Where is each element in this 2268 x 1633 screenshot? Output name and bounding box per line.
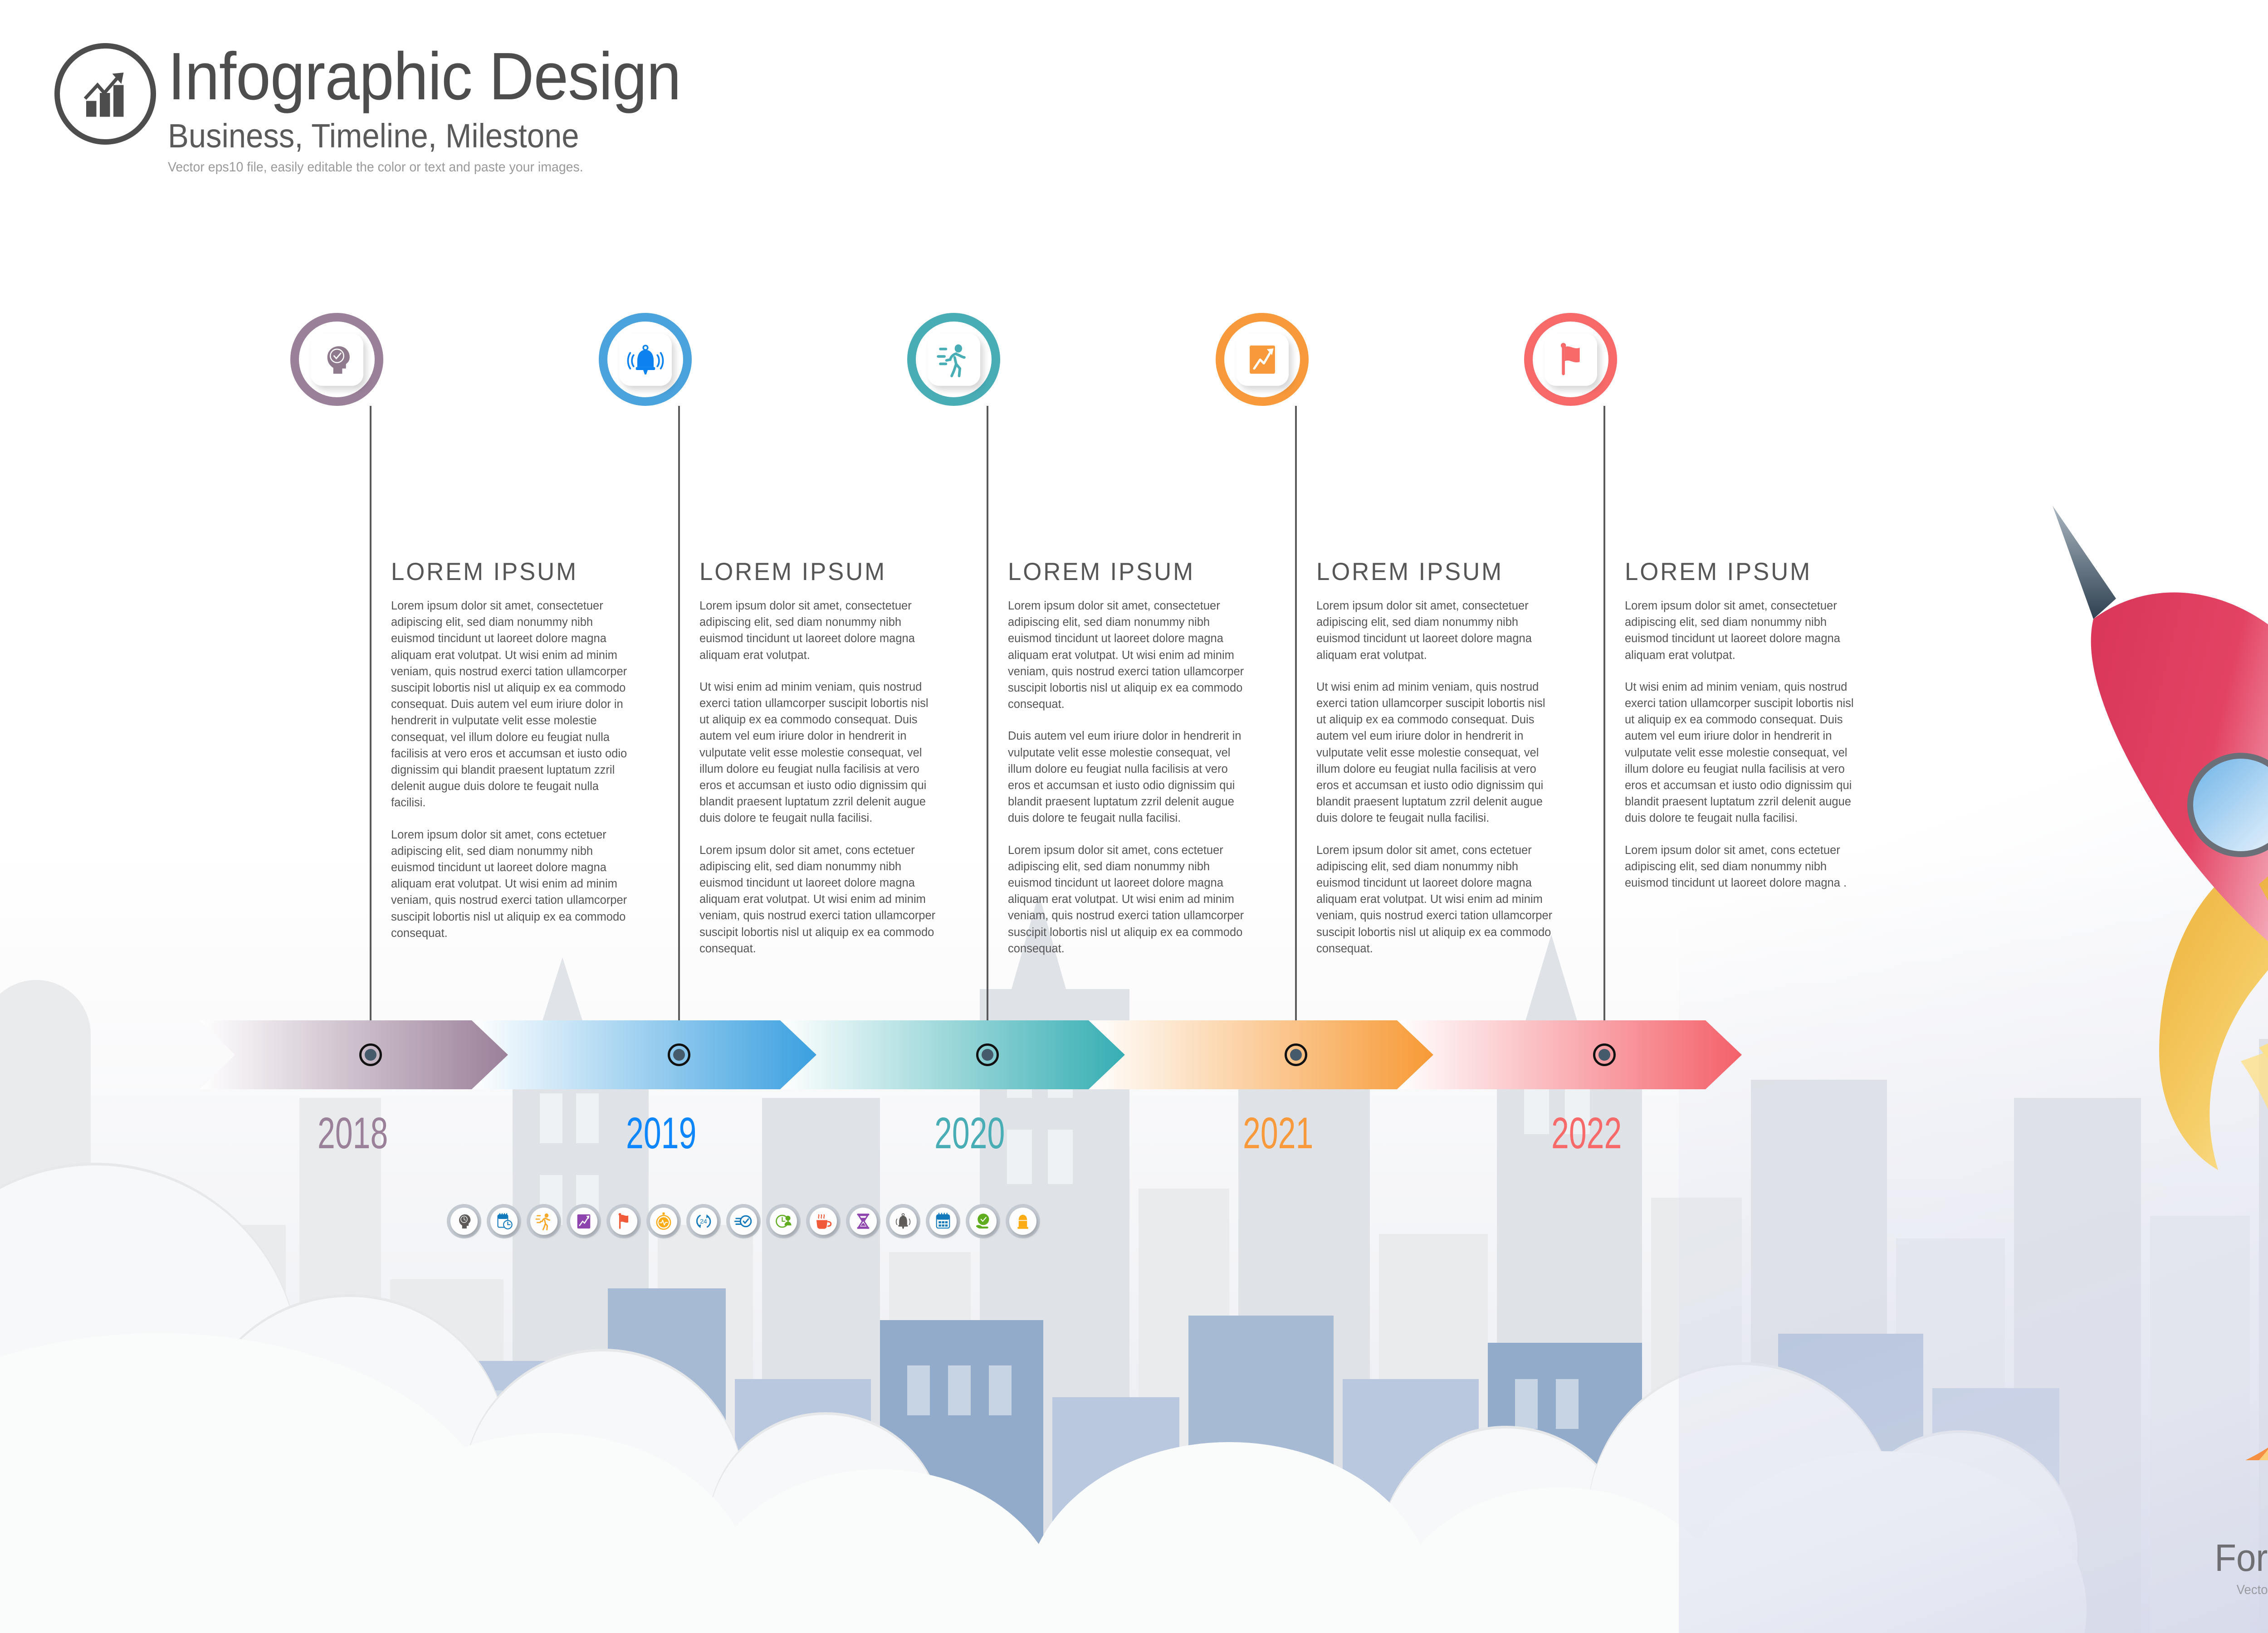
icon-strip-item[interactable]: 24	[686, 1204, 721, 1238]
hourglass-icon	[850, 1208, 877, 1235]
icon-strip-item[interactable]	[527, 1204, 561, 1238]
head-clock-icon	[450, 1208, 478, 1235]
flag-icon	[1545, 333, 1597, 386]
column-heading: LOREM IPSUM	[699, 557, 930, 586]
stopwatch-pulse-icon	[650, 1208, 677, 1235]
column-paragraph: Lorem ipsum dolor sit amet, consectetuer…	[1625, 598, 1865, 663]
icon-strip-item[interactable]	[806, 1204, 841, 1238]
connector-line-2019	[678, 406, 680, 1041]
icon-strip-item[interactable]	[726, 1204, 761, 1238]
bell-icon	[619, 333, 672, 386]
year-label-2020: 2020	[934, 1111, 1005, 1155]
timeline-arrow-bar	[200, 1020, 1742, 1089]
page-title: Infographic Design	[168, 43, 681, 110]
column-paragraph: Ut wisi enim ad minim veniam, quis nostr…	[1625, 679, 1865, 827]
running-man-icon	[928, 333, 980, 386]
icon-strip-item[interactable]	[966, 1204, 1000, 1238]
column-paragraph: Ut wisi enim ad minim veniam, quis nostr…	[1316, 679, 1557, 827]
running-man-icon	[530, 1208, 557, 1235]
milestone-circle-2022[interactable]	[1524, 313, 1617, 406]
column-paragraph: Lorem ipsum dolor sit amet, cons ectetue…	[1316, 842, 1557, 957]
icon-strip-item[interactable]	[567, 1204, 601, 1238]
milestone-circle-2018[interactable]	[290, 313, 383, 406]
icon-strip-item[interactable]	[646, 1204, 681, 1238]
bell-icon	[890, 1208, 917, 1235]
icon-strip-item[interactable]	[487, 1204, 521, 1238]
column-paragraph: Lorem ipsum dolor sit amet, consectetuer…	[391, 598, 631, 811]
column-paragraph: Lorem ipsum dolor sit amet, cons ectetue…	[1625, 842, 1865, 892]
timeline-pin-2018[interactable]	[359, 1043, 382, 1066]
footer-title: For Company Presentation	[2214, 1536, 2268, 1580]
column-heading: LOREM IPSUM	[391, 557, 622, 586]
column-paragraph: Duis autem vel eum iriure dolor in hendr…	[1008, 728, 1248, 826]
milestone-circle-2021[interactable]	[1216, 313, 1309, 406]
column-paragraph: Lorem ipsum dolor sit amet, consectetuer…	[1316, 598, 1557, 663]
24-hours-icon: 24	[690, 1208, 717, 1235]
bar-chart-growth-icon	[54, 43, 156, 145]
column-paragraph: Ut wisi enim ad minim veniam, quis nostr…	[699, 679, 940, 827]
svg-text:24: 24	[700, 1218, 707, 1225]
growth-chart-icon	[570, 1208, 597, 1235]
brand-header: Infographic Design Business, Timeline, M…	[54, 43, 719, 175]
milestone-column-2018: LOREM IPSUM Lorem ipsum dolor sit amet, …	[391, 557, 631, 957]
milestone-column-2021: LOREM IPSUM Lorem ipsum dolor sit amet, …	[1316, 557, 1557, 972]
icon-strip-item[interactable]	[1006, 1204, 1040, 1238]
page-note: Vector eps10 file, easily editable the c…	[168, 160, 692, 175]
year-label-2021: 2021	[1243, 1111, 1313, 1155]
milestone-marker-icon	[1009, 1208, 1036, 1235]
growth-chart-icon	[1236, 333, 1289, 386]
calendar-clock-icon	[490, 1208, 518, 1235]
timeline-pin-2020[interactable]	[976, 1043, 999, 1066]
page-subtitle: Business, Timeline, Milestone	[168, 117, 681, 154]
column-heading: LOREM IPSUM	[1316, 557, 1547, 586]
icon-strip-item[interactable]	[886, 1204, 920, 1238]
icon-strip-item[interactable]	[766, 1204, 801, 1238]
milestone-column-2020: LOREM IPSUM Lorem ipsum dolor sit amet, …	[1008, 557, 1248, 972]
footer-icons: Business Timeline Milestone	[2183, 1461, 2268, 1521]
milestone-column-2022: LOREM IPSUM Lorem ipsum dolor sit amet, …	[1625, 557, 1865, 907]
footer-note: Vector eps10 file, easily editable the c…	[2205, 1583, 2268, 1598]
milestone-circle-2020[interactable]	[907, 313, 1000, 406]
clock-hand-icon	[969, 1208, 997, 1235]
clock-person-icon	[770, 1208, 797, 1235]
column-paragraph: Lorem ipsum dolor sit amet, cons ectetue…	[391, 827, 631, 941]
column-paragraph: Lorem ipsum dolor sit amet, consectetuer…	[699, 598, 940, 663]
connector-line-2020	[987, 406, 988, 1041]
rocket-illustration	[2005, 463, 2268, 1460]
milestone-column-2019: LOREM IPSUM Lorem ipsum dolor sit amet, …	[699, 557, 940, 972]
coffee-cup-icon	[810, 1208, 837, 1235]
fast-check-icon	[730, 1208, 757, 1235]
year-label-2018: 2018	[318, 1111, 388, 1155]
year-label-2022: 2022	[1551, 1111, 1622, 1155]
column-heading: LOREM IPSUM	[1625, 557, 1856, 586]
timeline-pin-2022[interactable]	[1593, 1043, 1616, 1066]
connector-line-2022	[1603, 406, 1605, 1041]
column-paragraph: Lorem ipsum dolor sit amet, cons ectetue…	[1008, 842, 1248, 957]
milestone-circle-2019[interactable]	[599, 313, 692, 406]
connector-line-2018	[370, 406, 371, 1041]
icon-strip-item[interactable]	[606, 1204, 641, 1238]
infographic-canvas: Infographic Design Business, Timeline, M…	[0, 0, 2268, 1633]
icon-strip-item[interactable]	[447, 1204, 481, 1238]
connector-line-2021	[1295, 406, 1297, 1041]
column-paragraph: Lorem ipsum dolor sit amet, consectetuer…	[1008, 598, 1248, 712]
footer-block: Business Timeline Milestone For Company …	[2183, 1461, 2268, 1598]
icon-strip-item[interactable]	[926, 1204, 960, 1238]
timeline-pin-2021[interactable]	[1285, 1043, 1307, 1066]
calendar-icon	[929, 1208, 957, 1235]
head-clock-icon	[311, 333, 363, 386]
flag-icon	[610, 1208, 637, 1235]
column-heading: LOREM IPSUM	[1008, 557, 1239, 586]
year-label-2019: 2019	[626, 1111, 696, 1155]
icon-strip-item[interactable]	[846, 1204, 880, 1238]
column-paragraph: Lorem ipsum dolor sit amet, cons ectetue…	[699, 842, 940, 957]
icon-strip: 24	[447, 1204, 1040, 1238]
timeline-pin-2019[interactable]	[668, 1043, 690, 1066]
